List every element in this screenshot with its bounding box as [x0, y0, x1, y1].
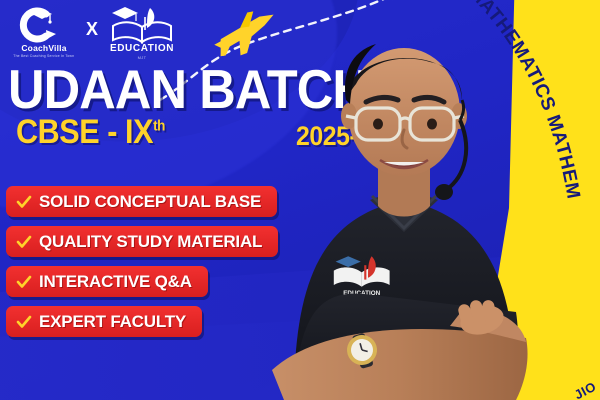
- coachvilla-logo: CoachVilla The Best Coaching Service In …: [8, 6, 80, 58]
- check-icon: [16, 274, 32, 290]
- feature-list: SOLID CONCEPTUAL BASE QUALITY STUDY MATE…: [6, 186, 278, 337]
- education-logo: EDUCATION MJT: [104, 4, 180, 60]
- education-name: EDUCATION: [110, 44, 174, 54]
- feature-item-1: SOLID CONCEPTUAL BASE: [6, 186, 277, 217]
- feature-label-3: INTERACTIVE Q&A: [39, 272, 192, 292]
- feature-label-2: QUALITY STUDY MATERIAL: [39, 232, 262, 252]
- coachvilla-mark-icon: [16, 6, 72, 44]
- education-mark-icon: [109, 4, 175, 44]
- feature-item-4: EXPERT FACULTY: [6, 306, 202, 337]
- presenter-photo: EDUCATION: [254, 8, 554, 400]
- check-icon: [16, 314, 32, 330]
- brand-logo-row: CoachVilla The Best Coaching Service In …: [8, 4, 180, 60]
- course-ordinal: th: [153, 118, 165, 135]
- collab-separator: X: [86, 20, 98, 44]
- feature-label-1: SOLID CONCEPTUAL BASE: [39, 192, 261, 212]
- course-title-text: CBSE - IX: [16, 113, 153, 151]
- check-icon: [16, 234, 32, 250]
- feature-label-4: EXPERT FACULTY: [39, 312, 186, 332]
- feature-item-2: QUALITY STUDY MATERIAL: [6, 226, 278, 257]
- check-icon: [16, 194, 32, 210]
- feature-item-3: INTERACTIVE Q&A: [6, 266, 208, 297]
- course-title: CBSE - IXth: [16, 115, 165, 149]
- promo-poster: MATHEMATICS MATHEM JIO: [0, 0, 600, 400]
- coachvilla-name: CoachVilla: [21, 44, 66, 53]
